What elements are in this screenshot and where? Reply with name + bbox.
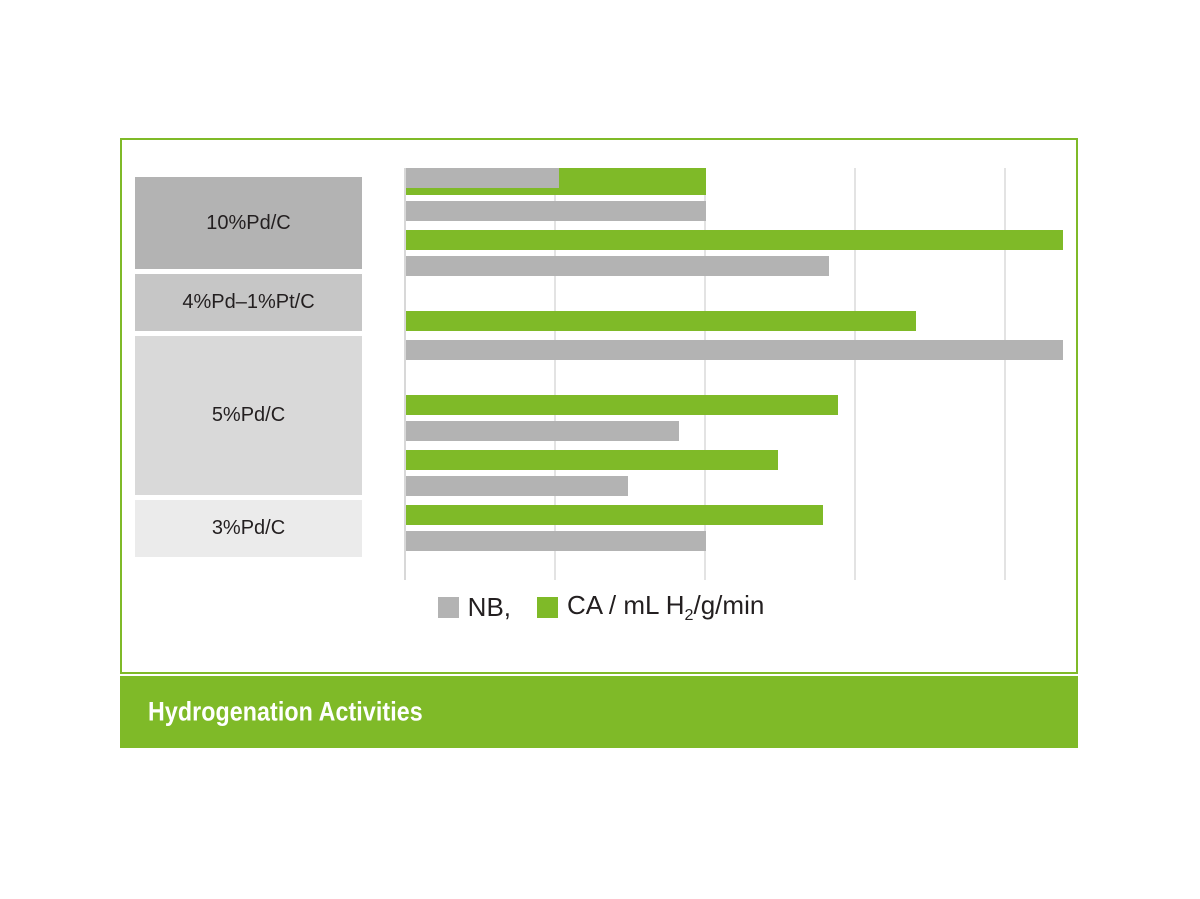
bar-ca-5pdc [406,395,838,415]
plot-area [404,168,1064,580]
category-label: 4%Pd–1%Pt/C [182,291,314,314]
chart-screenshot: 10%Pd/C 4%Pd–1%Pt/C 5%Pd/C 3%Pd/C NB, [0,0,1200,899]
bar-ca-5pdc [406,450,778,470]
legend-label-ca: CA / mL H2/g/min [567,590,764,625]
bar-ca-10pdc [406,230,1063,250]
legend-label-ca-sub: 2 [685,606,694,624]
legend-swatch-nb-icon [438,597,459,618]
title-banner: Hydrogenation Activities [120,676,1078,748]
legend-item-nb: NB, [438,592,511,623]
bar-nb-5pdc [406,421,679,441]
chart-card: 10%Pd/C 4%Pd–1%Pt/C 5%Pd/C 3%Pd/C NB, [120,138,1078,674]
category-label: 5%Pd/C [212,404,285,427]
category-box-3pdc: 3%Pd/C [135,500,362,557]
chart-legend: NB, CA / mL H2/g/min [122,590,1080,625]
legend-label-ca-pre: CA / mL H [567,590,685,620]
bar-nb-4pd1ptc [406,340,1063,360]
legend-label-nb: NB, [468,592,511,623]
bar-nb-3pdc [406,168,559,188]
bar-nb-5pdc [406,531,706,551]
category-box-5pdc: 5%Pd/C [135,336,362,495]
legend-label-ca-post: /g/min [694,590,765,620]
bar-nb-5pdc [406,476,628,496]
bar-nb-10pdc [406,201,706,221]
bar-ca-4pd1ptc [406,311,916,331]
bar-ca-5pdc [406,505,823,525]
legend-item-ca: CA / mL H2/g/min [537,590,764,625]
page-title: Hydrogenation Activities [148,697,423,728]
category-box-10pdc: 10%Pd/C [135,177,362,269]
category-box-4pd1ptc: 4%Pd–1%Pt/C [135,274,362,331]
category-label: 3%Pd/C [212,517,285,540]
legend-swatch-ca-icon [537,597,558,618]
bar-nb-10pdc [406,256,829,276]
category-label: 10%Pd/C [206,212,291,235]
category-label-column: 10%Pd/C 4%Pd–1%Pt/C 5%Pd/C 3%Pd/C [135,177,362,571]
